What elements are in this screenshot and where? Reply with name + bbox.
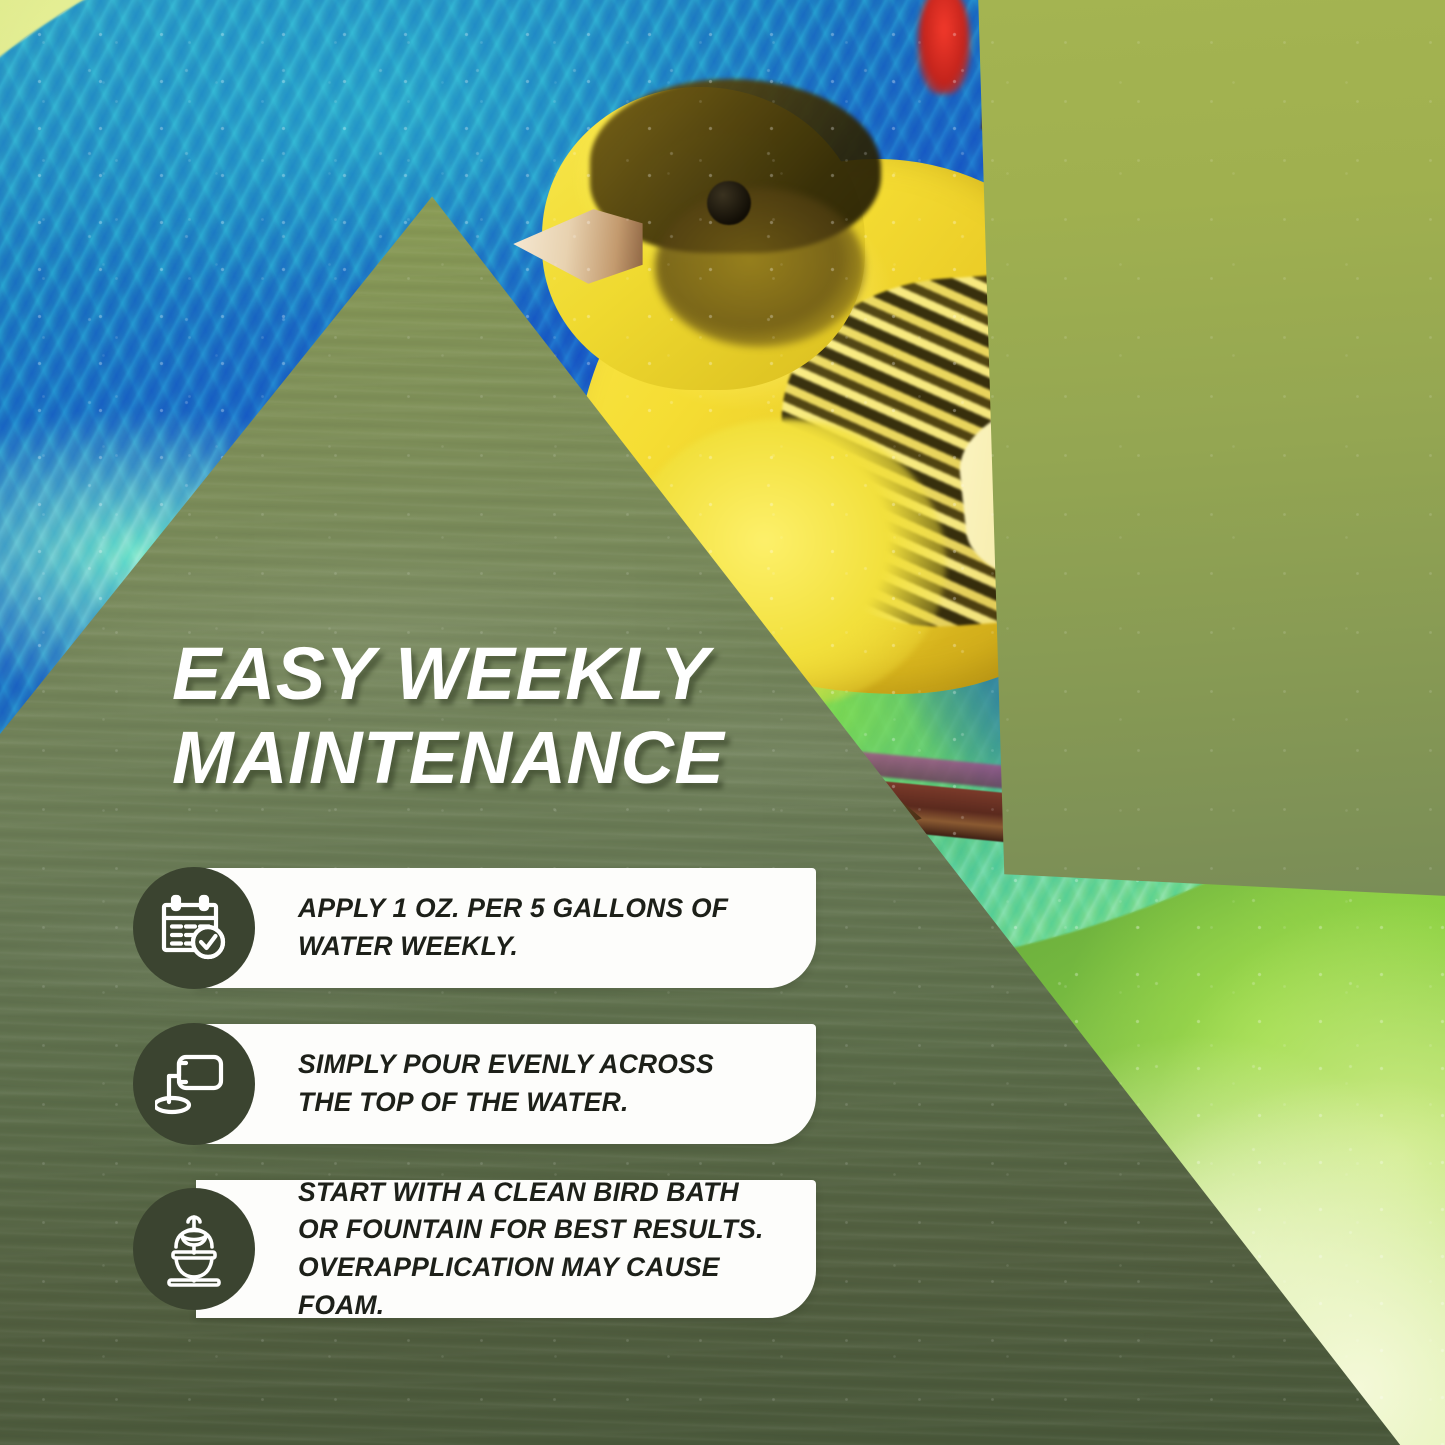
calendar-check-icon <box>133 867 255 989</box>
feature-list: APPLY 1 OZ. PER 5 GALLONS OF WATER WEEKL… <box>0 868 1445 1354</box>
feature-text: START WITH A CLEAN BIRD BATH OR FOUNTAIN… <box>298 1174 790 1325</box>
fountain-icon <box>133 1188 255 1310</box>
feature-pill: APPLY 1 OZ. PER 5 GALLONS OF WATER WEEKL… <box>196 868 816 988</box>
feature-text: SIMPLY POUR EVENLY ACROSS THE TOP OF THE… <box>298 1046 714 1121</box>
feature-pill: SIMPLY POUR EVENLY ACROSS THE TOP OF THE… <box>196 1024 816 1144</box>
feature-pill: START WITH A CLEAN BIRD BATH OR FOUNTAIN… <box>196 1180 816 1318</box>
pouring-bottle-icon <box>133 1023 255 1145</box>
page-title: EASY WEEKLY MAINTENANCE <box>172 632 912 799</box>
product-feature-graphic: EASY WEEKLY MAINTENANCE APPLY 1 OZ. PER … <box>0 0 1445 1445</box>
list-item: APPLY 1 OZ. PER 5 GALLONS OF WATER WEEKL… <box>0 868 1445 988</box>
feature-text: APPLY 1 OZ. PER 5 GALLONS OF WATER WEEKL… <box>298 890 728 965</box>
list-item: START WITH A CLEAN BIRD BATH OR FOUNTAIN… <box>0 1180 1445 1318</box>
list-item: SIMPLY POUR EVENLY ACROSS THE TOP OF THE… <box>0 1024 1445 1144</box>
